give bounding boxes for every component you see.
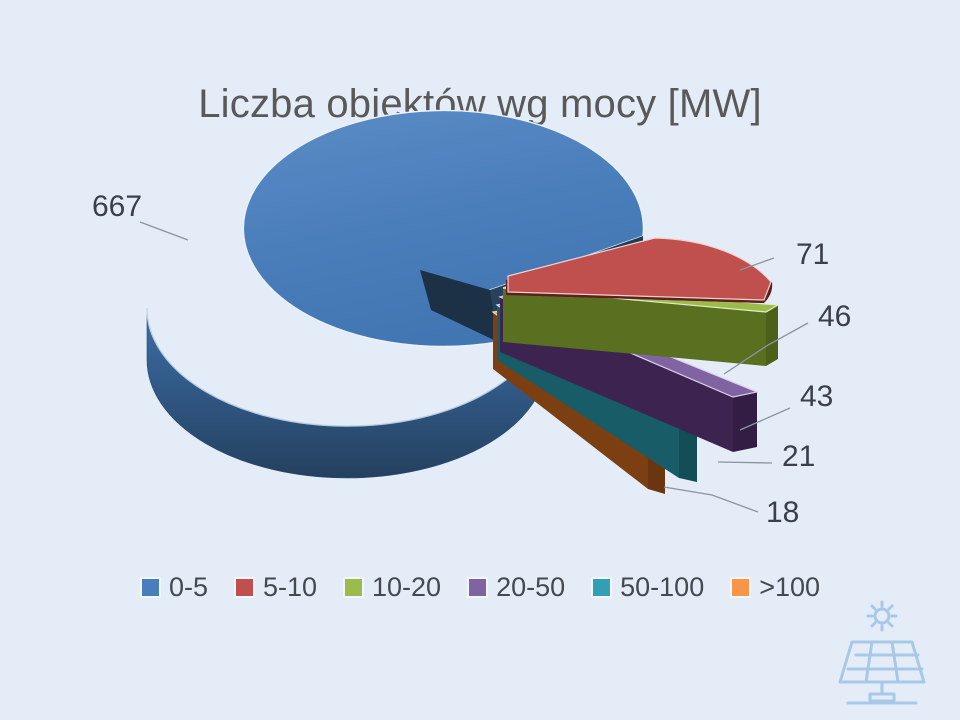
- legend-item-50-100[interactable]: 50-100: [591, 572, 704, 603]
- data-label-18: 18: [766, 496, 799, 530]
- legend-item-label: 10-20: [372, 572, 441, 603]
- data-label-71: 71: [796, 238, 829, 272]
- legend-item-10-20[interactable]: 10-20: [343, 572, 441, 603]
- legend-item-over-100[interactable]: >100: [730, 572, 820, 603]
- chart-canvas: Liczba obiektów wg mocy [MW]: [0, 0, 960, 720]
- legend-item-label: 20-50: [496, 572, 565, 603]
- legend-swatch-icon: [591, 577, 612, 598]
- legend-item-label: 50-100: [620, 572, 704, 603]
- chart-legend: 0-5 5-10 10-20 20-50 50-100 >100: [0, 572, 960, 603]
- data-label-21: 21: [782, 440, 815, 474]
- data-label-43: 43: [800, 380, 833, 414]
- legend-swatch-icon: [730, 577, 751, 598]
- legend-item-0-5[interactable]: 0-5: [140, 572, 208, 603]
- legend-item-label: 0-5: [169, 572, 208, 603]
- legend-item-20-50[interactable]: 20-50: [467, 572, 565, 603]
- pie-chart-3d: [0, 0, 960, 720]
- legend-item-label: 5-10: [263, 572, 317, 603]
- legend-item-label: >100: [759, 572, 820, 603]
- legend-swatch-icon: [234, 577, 255, 598]
- legend-swatch-icon: [343, 577, 364, 598]
- data-label-46: 46: [818, 300, 851, 334]
- legend-swatch-icon: [140, 577, 161, 598]
- data-label-667: 667: [92, 190, 142, 224]
- solar-panel-icon: [822, 600, 942, 710]
- legend-swatch-icon: [467, 577, 488, 598]
- legend-item-5-10[interactable]: 5-10: [234, 572, 317, 603]
